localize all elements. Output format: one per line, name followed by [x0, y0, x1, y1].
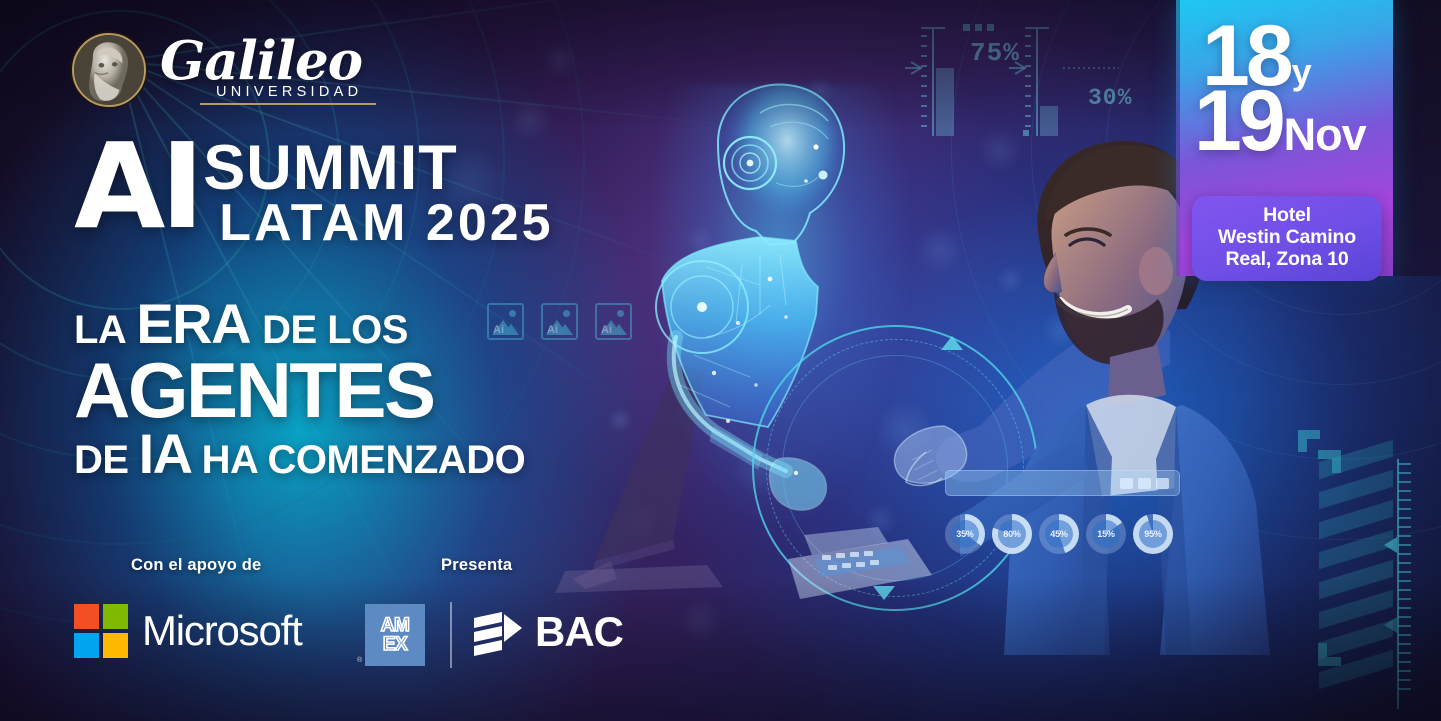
venue-line-2: Westin Camino — [1200, 227, 1374, 249]
event-title: AI SUMMIT LATAM 2025 — [74, 136, 554, 248]
support-label: Con el apoyo de — [131, 556, 261, 575]
amex-registered-mark: ® — [357, 657, 362, 664]
date-conjunction: y — [1292, 58, 1312, 91]
university-wordmark: Galileo UNIVERSIDAD — [160, 35, 376, 104]
galileo-bust-icon — [72, 33, 146, 107]
event-banner: 75% 30% Ai Ai Ai 35%80%45%15%95% — [0, 0, 1441, 721]
bac-logo[interactable]: BAC — [472, 608, 623, 656]
sponsor-section: Con el apoyo de Presenta Microsoft AM EX… — [74, 556, 634, 670]
tagline-de-los: DE LOS — [262, 310, 408, 350]
date-day-2: 19 — [1194, 87, 1282, 156]
sponsor-divider — [450, 602, 452, 668]
microsoft-wordmark: Microsoft — [142, 607, 302, 655]
venue-badge[interactable]: Hotel Westin Camino Real, Zona 10 — [1192, 196, 1382, 281]
amex-line2: EX — [383, 635, 407, 654]
microsoft-logo[interactable]: Microsoft — [74, 604, 302, 658]
university-subtitle: UNIVERSIDAD — [216, 84, 376, 100]
bac-wordmark: BAC — [535, 608, 623, 656]
tagline-era: ERA — [136, 296, 250, 352]
tagline-la: LA — [74, 310, 126, 350]
right-dark-strip — [1393, 0, 1441, 276]
date-panel: 18 y 19 Nov Hotel Westin Camino Real, Zo… — [1180, 0, 1393, 276]
tagline-ia: IA — [139, 426, 192, 482]
title-ai: AI — [74, 136, 199, 237]
tagline-block: LA ERA DE LOS AGENTES DE IA HA COMENZADO — [74, 296, 525, 482]
bac-mark-icon — [472, 608, 524, 656]
amex-line1: AM — [381, 616, 410, 635]
venue-line-1: Hotel — [1200, 205, 1374, 227]
tagline-de: DE — [74, 440, 129, 480]
wordmark-rule — [200, 103, 376, 105]
venue-line-3: Real, Zona 10 — [1200, 249, 1374, 271]
date-month: Nov — [1284, 117, 1366, 156]
amex-logo[interactable]: AM EX ® — [365, 604, 425, 666]
university-logo[interactable]: Galileo UNIVERSIDAD — [72, 33, 376, 107]
event-dates: 18 y 19 Nov — [1188, 22, 1388, 156]
presenter-label: Presenta — [441, 556, 512, 575]
university-script-name: Galileo — [160, 37, 376, 86]
microsoft-squares-icon — [74, 604, 128, 658]
tagline-ha-comenzado: HA COMENZADO — [202, 440, 526, 480]
title-summit: SUMMIT — [203, 142, 553, 195]
tagline-agentes: AGENTES — [74, 353, 434, 428]
title-latam-year: LATAM 2025 — [219, 199, 553, 248]
